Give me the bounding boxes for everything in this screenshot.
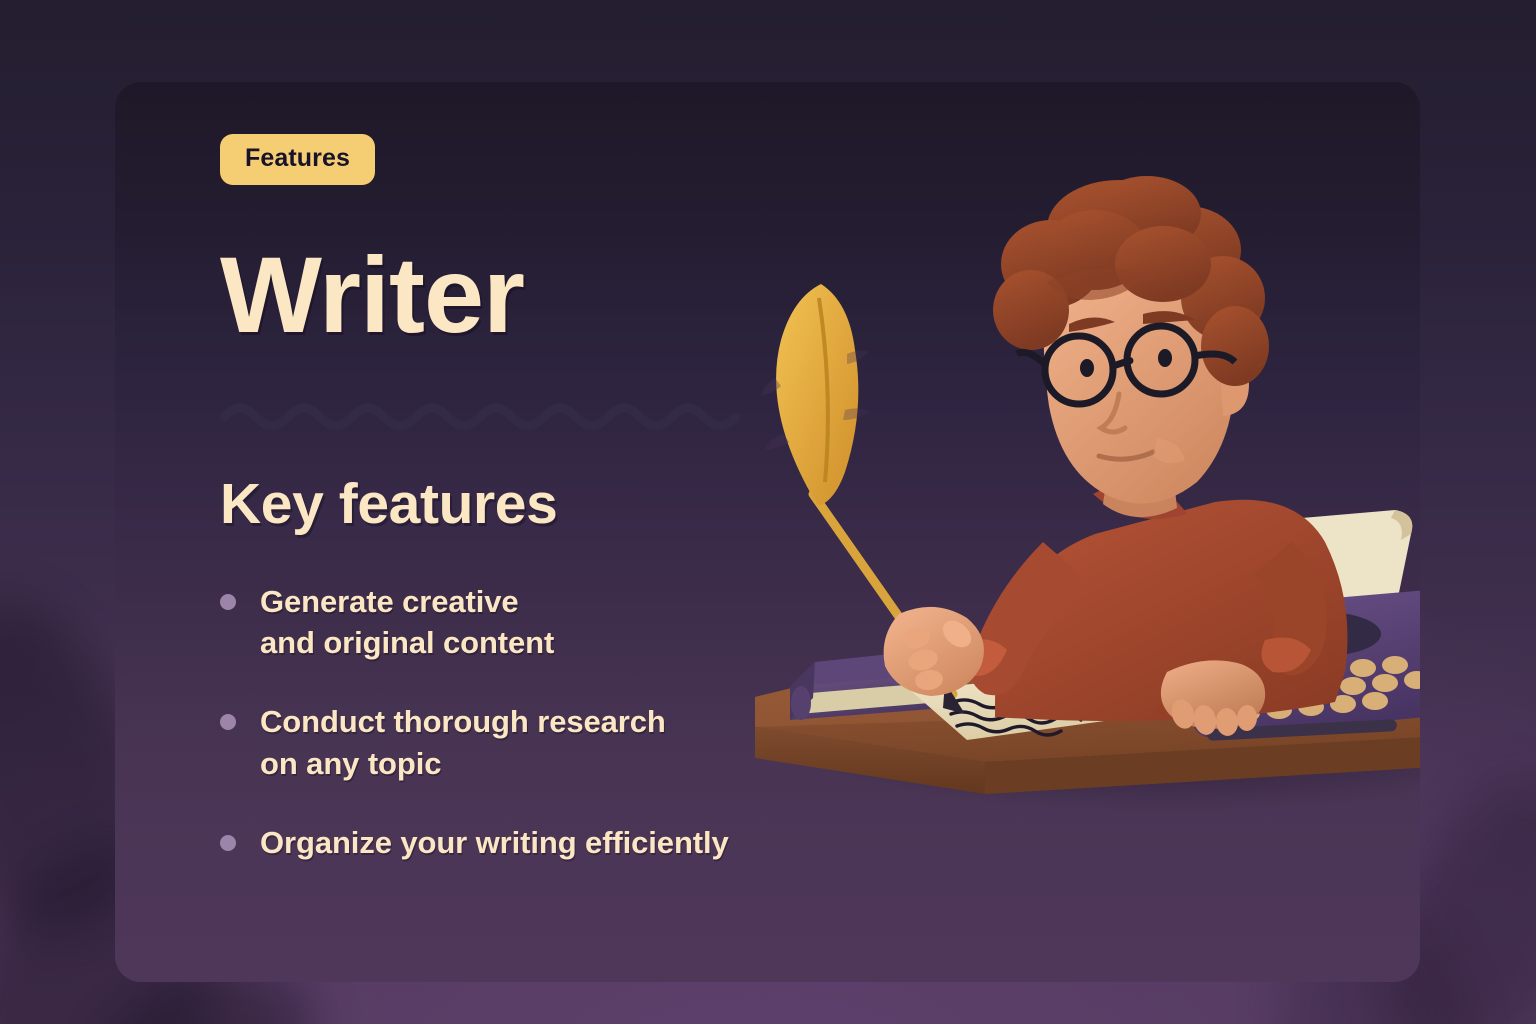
card-content: Features Writer Key features Generate cr…: [220, 134, 860, 863]
key-features-heading: Key features: [220, 475, 860, 535]
features-badge[interactable]: Features: [220, 134, 375, 185]
features-list: Generate creative and original content C…: [220, 581, 860, 863]
wavy-divider-icon: [220, 397, 740, 431]
feature-text: Conduct thorough research on any topic: [260, 701, 666, 783]
feature-text: Generate creative and original content: [260, 581, 554, 663]
bullet-dot-icon: [220, 594, 236, 610]
list-item: Conduct thorough research on any topic: [220, 701, 860, 783]
feature-card: Features Writer Key features Generate cr…: [115, 82, 1420, 982]
feature-text: Organize your writing efficiently: [260, 822, 729, 863]
eye-right: [1158, 349, 1172, 367]
bullet-dot-icon: [220, 835, 236, 851]
character-head: [993, 176, 1269, 517]
page-title: Writer: [220, 241, 860, 349]
page-root: Features Writer Key features Generate cr…: [0, 0, 1536, 1024]
list-item: Organize your writing efficiently: [220, 822, 860, 863]
eye-left: [1080, 359, 1094, 377]
bullet-dot-icon: [220, 714, 236, 730]
list-item: Generate creative and original content: [220, 581, 860, 663]
